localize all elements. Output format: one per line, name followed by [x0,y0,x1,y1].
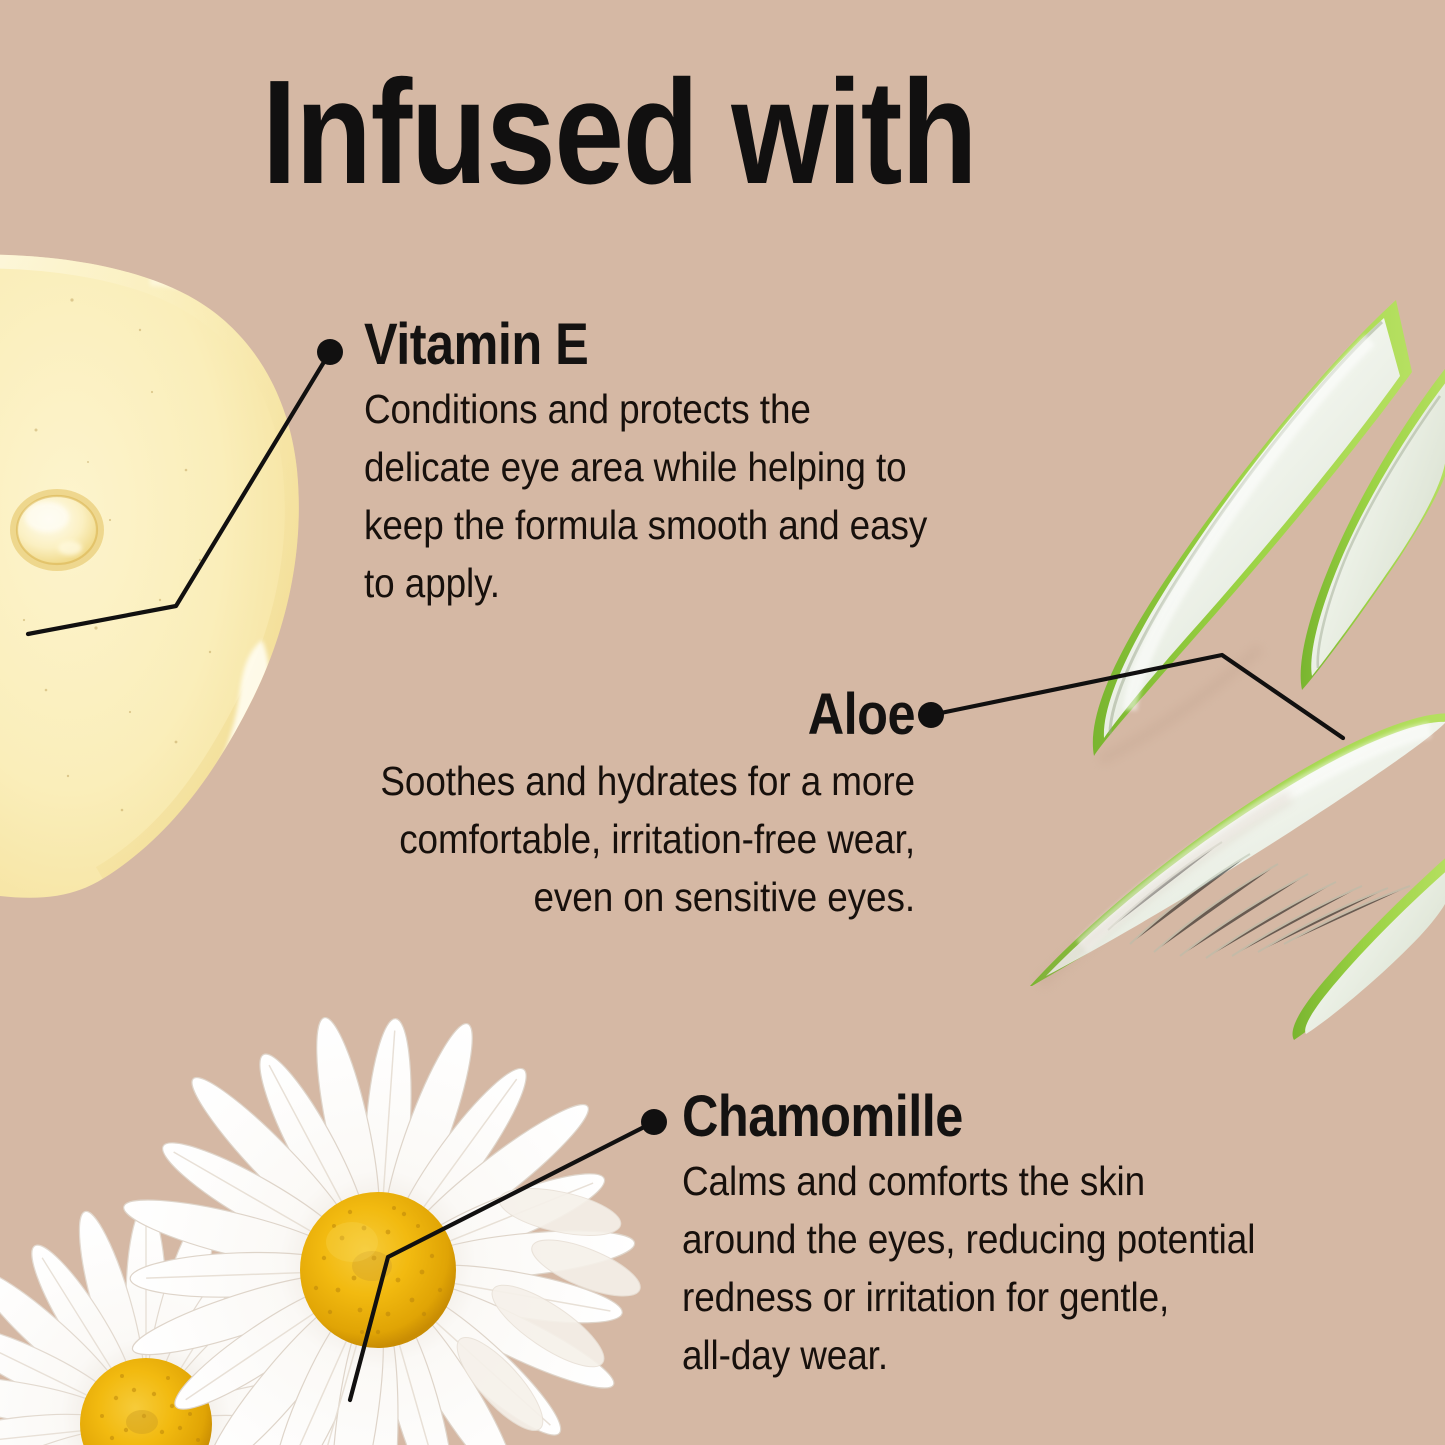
description-line: delicate eye area while helping to [364,438,1030,496]
aloe-leaf-3 [1030,714,1445,986]
infographic-canvas: Infused with Vitamin E Conditions and pr… [0,0,1445,1445]
description-line: even on sensitive eyes. [267,868,915,926]
page-title: Infused with [262,58,976,208]
vitamin-e-leader-line [28,352,330,634]
ingredient-description-chamomille: Calms and comforts the skin around the e… [682,1152,1312,1384]
description-line: around the eyes, reducing potential [682,1210,1312,1268]
aloe-leaf-4 [1293,852,1445,1040]
chamomile-flower-front [119,1013,637,1445]
aloe-leader-dot [918,702,944,728]
chamomile-flowers-group [0,1013,647,1445]
ingredient-block-aloe: Aloe Soothes and hydrates for a more com… [195,684,915,926]
vitamin-e-leader-dot [317,339,343,365]
aloe-leader-line [931,655,1343,738]
chamomile-flower-back [0,1202,367,1445]
aloe-leaf-1 [1093,300,1412,756]
description-line: redness or irritation for gentle, [682,1268,1312,1326]
ingredient-block-chamomille: Chamomille Calms and comforts the skin a… [682,1086,1382,1384]
serum-bubble-group [10,489,104,571]
ingredient-name-vitamin-e: Vitamin E [364,314,1008,376]
description-line: all-day wear. [682,1326,1312,1384]
ingredient-name-aloe: Aloe [289,684,915,746]
description-line: keep the formula smooth and easy [364,496,1030,554]
description-line: Soothes and hydrates for a more [267,752,915,810]
chamomille-leader-dot [641,1109,667,1135]
ingredient-block-vitamin-e: Vitamin E Conditions and protects the de… [364,314,1104,612]
description-line: Conditions and protects the [364,380,1030,438]
chamomille-leader-line [350,1122,654,1400]
description-line: to apply. [364,554,1030,612]
ingredient-description-vitamin-e: Conditions and protects the delicate eye… [364,380,1030,612]
description-line: Calms and comforts the skin [682,1152,1312,1210]
ingredient-description-aloe: Soothes and hydrates for a more comforta… [267,752,915,926]
ingredient-name-chamomille: Chamomille [682,1086,1291,1148]
description-line: comfortable, irritation-free wear, [267,810,915,868]
aloe-leaf-2 [1301,360,1445,690]
